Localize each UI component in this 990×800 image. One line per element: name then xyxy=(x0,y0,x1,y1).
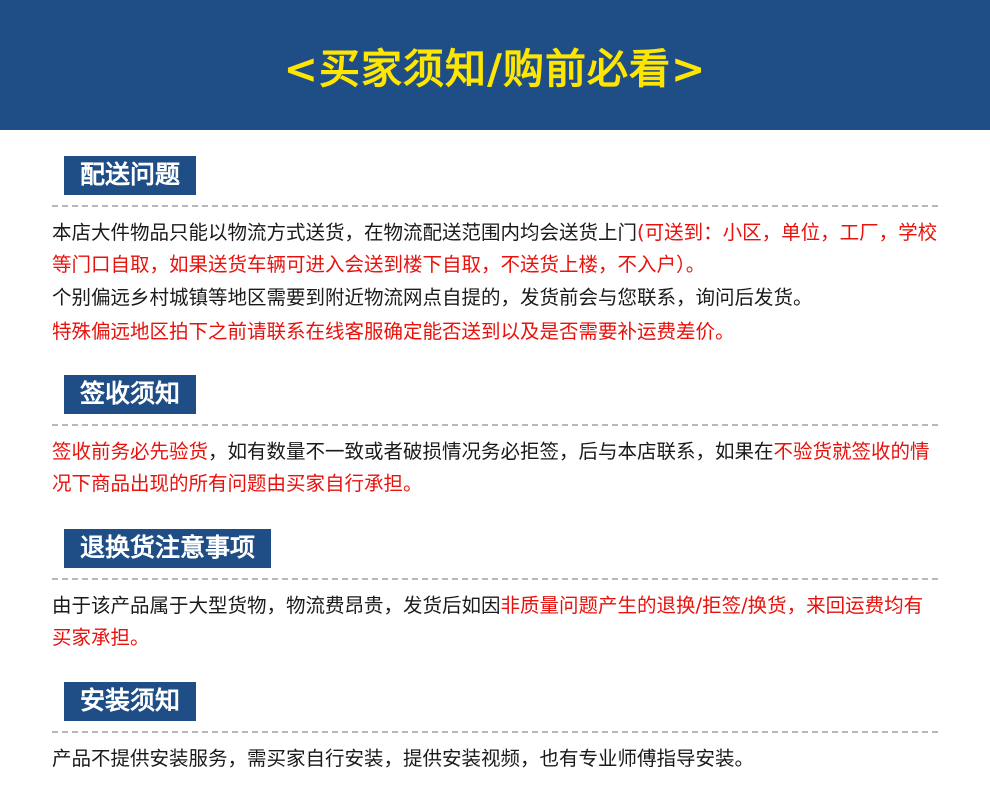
section-delivery-heading: 配送问题 xyxy=(64,156,196,195)
section-delivery: 配送问题 本店大件物品只能以物流方式送货，在物流配送范围内均会送货上门(可送到：… xyxy=(52,130,938,347)
text-run-highlight: 特殊偏远地区拍下之前请联系在线客服确定 xyxy=(52,320,423,343)
text-run: 个别偏远乡村城镇等地区需要到附近物流网点自提的，发货前会与您联系，询问后发货。 xyxy=(52,286,813,309)
section-installation-heading: 安装须知 xyxy=(64,682,196,721)
section-installation-divider xyxy=(52,731,938,733)
section-delivery-divider xyxy=(52,205,938,207)
section-delivery-head-row: 配送问题 xyxy=(52,130,938,205)
section-delivery-paragraph-3: 特殊偏远地区拍下之前请联系在线客服确定能否送到以及是否需要补运费差价。 xyxy=(52,316,938,348)
text-run: 由于该产品属于大型货物，物流费昂贵，发货后如因 xyxy=(52,594,501,617)
section-signing-heading: 签收须知 xyxy=(64,375,196,414)
section-signing-divider xyxy=(52,424,938,426)
section-returns-paragraph-1: 由于该产品属于大型货物，物流费昂贵，发货后如因非质量问题产生的退换/拒签/换货，… xyxy=(52,590,938,653)
text-run: ，如有数量不一致或者破损情况务必拒签，后与本店联系，如果在 xyxy=(208,440,774,463)
section-installation-head-row: 安装须知 xyxy=(52,656,938,731)
section-installation: 安装须知 产品不提供安装服务，需买家自行安装，提供安装视频，也有专业师傅指导安装… xyxy=(52,656,938,775)
section-installation-paragraph-1: 产品不提供安装服务，需买家自行安装，提供安装视频，也有专业师傅指导安装。 xyxy=(52,743,938,775)
section-delivery-paragraph-1: 本店大件物品只能以物流方式送货，在物流配送范围内均会送货上门(可送到：小区，单位… xyxy=(52,217,938,280)
section-returns-divider xyxy=(52,578,938,580)
section-returns-head-row: 退换货注意事项 xyxy=(52,501,938,578)
section-signing-paragraph-1: 签收前务必先验货，如有数量不一致或者破损情况务必拒签，后与本店联系，如果在不验货… xyxy=(52,436,938,499)
text-run: 本店大件物品只能以物流方式送货，在物流配送范围内均会送货上门 xyxy=(52,221,637,244)
section-delivery-paragraph-2: 个别偏远乡村城镇等地区需要到附近物流网点自提的，发货前会与您联系，询问后发货。 xyxy=(52,282,938,314)
section-returns-heading: 退换货注意事项 xyxy=(64,529,271,568)
section-returns: 退换货注意事项 由于该产品属于大型货物，物流费昂贵，发货后如因非质量问题产生的退… xyxy=(52,501,938,653)
text-run: 产品不提供安装服务，需买家自行安装，提供安装视频，也有专业师傅指导安装。 xyxy=(52,747,754,770)
section-signing-head-row: 签收须知 xyxy=(52,349,938,424)
page-title: <买家须知/购前必看> xyxy=(284,35,707,95)
page-banner: <买家须知/购前必看> xyxy=(0,0,990,130)
buyer-notice-page: <买家须知/购前必看> 配送问题 本店大件物品只能以物流方式送货，在物流配送范围… xyxy=(0,0,990,800)
text-run-highlight: 签收前务必先验货 xyxy=(52,440,208,463)
notice-content: 配送问题 本店大件物品只能以物流方式送货，在物流配送范围内均会送货上门(可送到：… xyxy=(0,130,990,774)
text-run-highlight: 能否送到以及是否需要补运费差价。 xyxy=(423,320,735,343)
section-signing: 签收须知 签收前务必先验货，如有数量不一致或者破损情况务必拒签，后与本店联系，如… xyxy=(52,349,938,499)
